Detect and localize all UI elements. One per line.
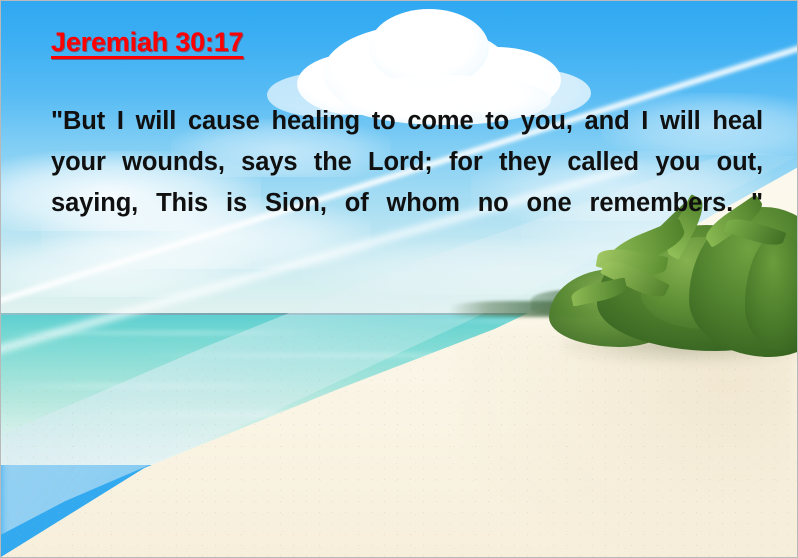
verse-text: "But I will cause healing to come to you… — [51, 101, 763, 265]
scripture-slide: Jeremiah 30:17 "But I will cause healing… — [0, 0, 798, 558]
verse-reference: Jeremiah 30:17 — [51, 27, 243, 58]
text-overlay: Jeremiah 30:17 "But I will cause healing… — [1, 1, 797, 557]
